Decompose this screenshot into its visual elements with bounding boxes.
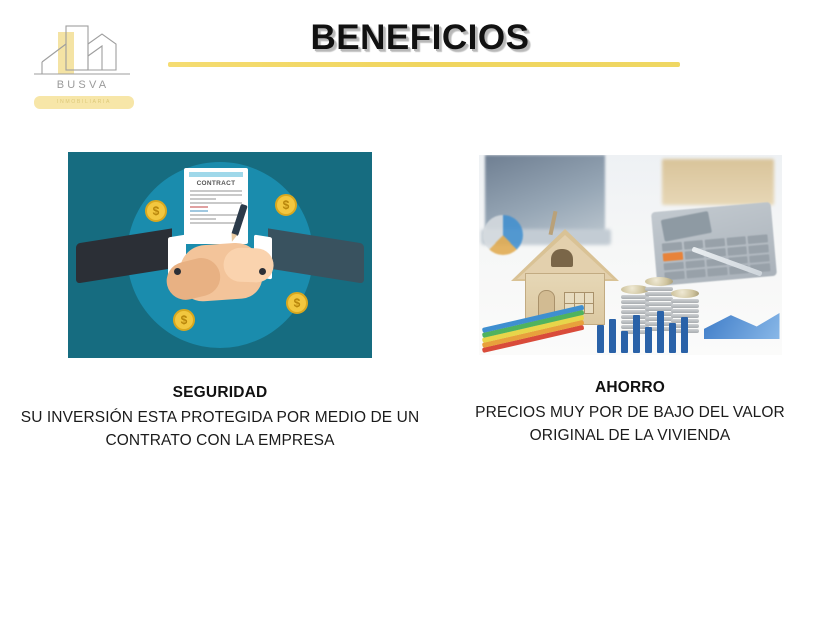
cuff-button: [174, 268, 181, 275]
benefit-body: SU INVERSIÓN ESTA PROTEGIDA POR MEDIO DE…: [20, 407, 420, 452]
calculator-screen: [660, 211, 711, 242]
calculator-key: [661, 242, 681, 251]
chart-bar: [633, 315, 640, 353]
chart-bar: [681, 317, 688, 353]
chart-bar: [609, 319, 616, 353]
calculator-key: [749, 254, 769, 263]
document-title: CONTRACT: [184, 180, 248, 187]
calculator-key: [662, 252, 682, 261]
benefit-caption: SEGURIDAD SU INVERSIÓN ESTA PROTEGIDA PO…: [20, 384, 420, 452]
dollar-coin-icon: $: [286, 292, 308, 314]
title-underline-rule: [168, 62, 680, 67]
chart-bar: [645, 327, 652, 353]
document-line: [190, 210, 208, 212]
handshake-hands: [178, 241, 264, 303]
handshake-illustration: CONTRACT $ $ $ $: [68, 152, 372, 358]
chart-bar: [621, 331, 628, 353]
bar-chart-graphic: [591, 295, 781, 353]
document-line: [190, 206, 208, 208]
window-mullion: [565, 303, 593, 304]
logo-tagline: INMOBILIARIA: [34, 96, 134, 109]
house-attic-window: [551, 249, 573, 267]
benefit-heading: SEGURIDAD: [20, 384, 420, 402]
handshake-contract-image: CONTRACT $ $ $ $: [68, 152, 372, 358]
benefit-card-seguridad: CONTRACT $ $ $ $: [20, 150, 420, 358]
wood-panel: [662, 159, 774, 205]
dollar-coin-icon: $: [275, 194, 297, 216]
page-header: BUSVA INMOBILIARIA BENEFICIOS: [0, 0, 840, 120]
document-line: [190, 202, 242, 204]
benefit-caption: AHORRO PRECIOS MUY POR DE BAJO DEL VALOR…: [440, 379, 820, 447]
calculator-key: [748, 244, 768, 253]
chart-bar: [669, 323, 676, 353]
calculator-key: [747, 234, 767, 243]
calculator-key: [707, 267, 727, 276]
benefit-body: PRECIOS MUY POR DE BAJO DEL VALOR ORIGIN…: [440, 402, 820, 447]
document-line: [190, 214, 242, 216]
document-line: [190, 194, 242, 196]
rainbow-line-graphic: [483, 317, 587, 353]
dollar-coin-icon: $: [173, 309, 195, 331]
chart-bar: [597, 325, 604, 353]
document-line: [190, 198, 216, 200]
document-line: [190, 190, 242, 192]
house-model-finance-image: [479, 155, 782, 355]
document-line: [190, 218, 216, 220]
logo-wordmark: BUSVA: [28, 79, 138, 91]
chart-bar: [657, 311, 664, 353]
page-title: BENEFICIOS: [0, 18, 840, 58]
calculator-key: [727, 246, 747, 255]
calculator-key: [704, 238, 724, 247]
document-header-bar: [189, 172, 243, 177]
dollar-coin-icon: $: [145, 200, 167, 222]
house-model-photo: [479, 155, 782, 355]
cuff-button: [259, 268, 266, 275]
benefit-heading: AHORRO: [440, 379, 820, 397]
coin: [645, 277, 673, 286]
coin: [645, 287, 673, 291]
benefit-card-ahorro: AHORRO PRECIOS MUY POR DE BAJO DEL VALOR…: [440, 150, 820, 355]
calculator-key: [726, 236, 746, 245]
